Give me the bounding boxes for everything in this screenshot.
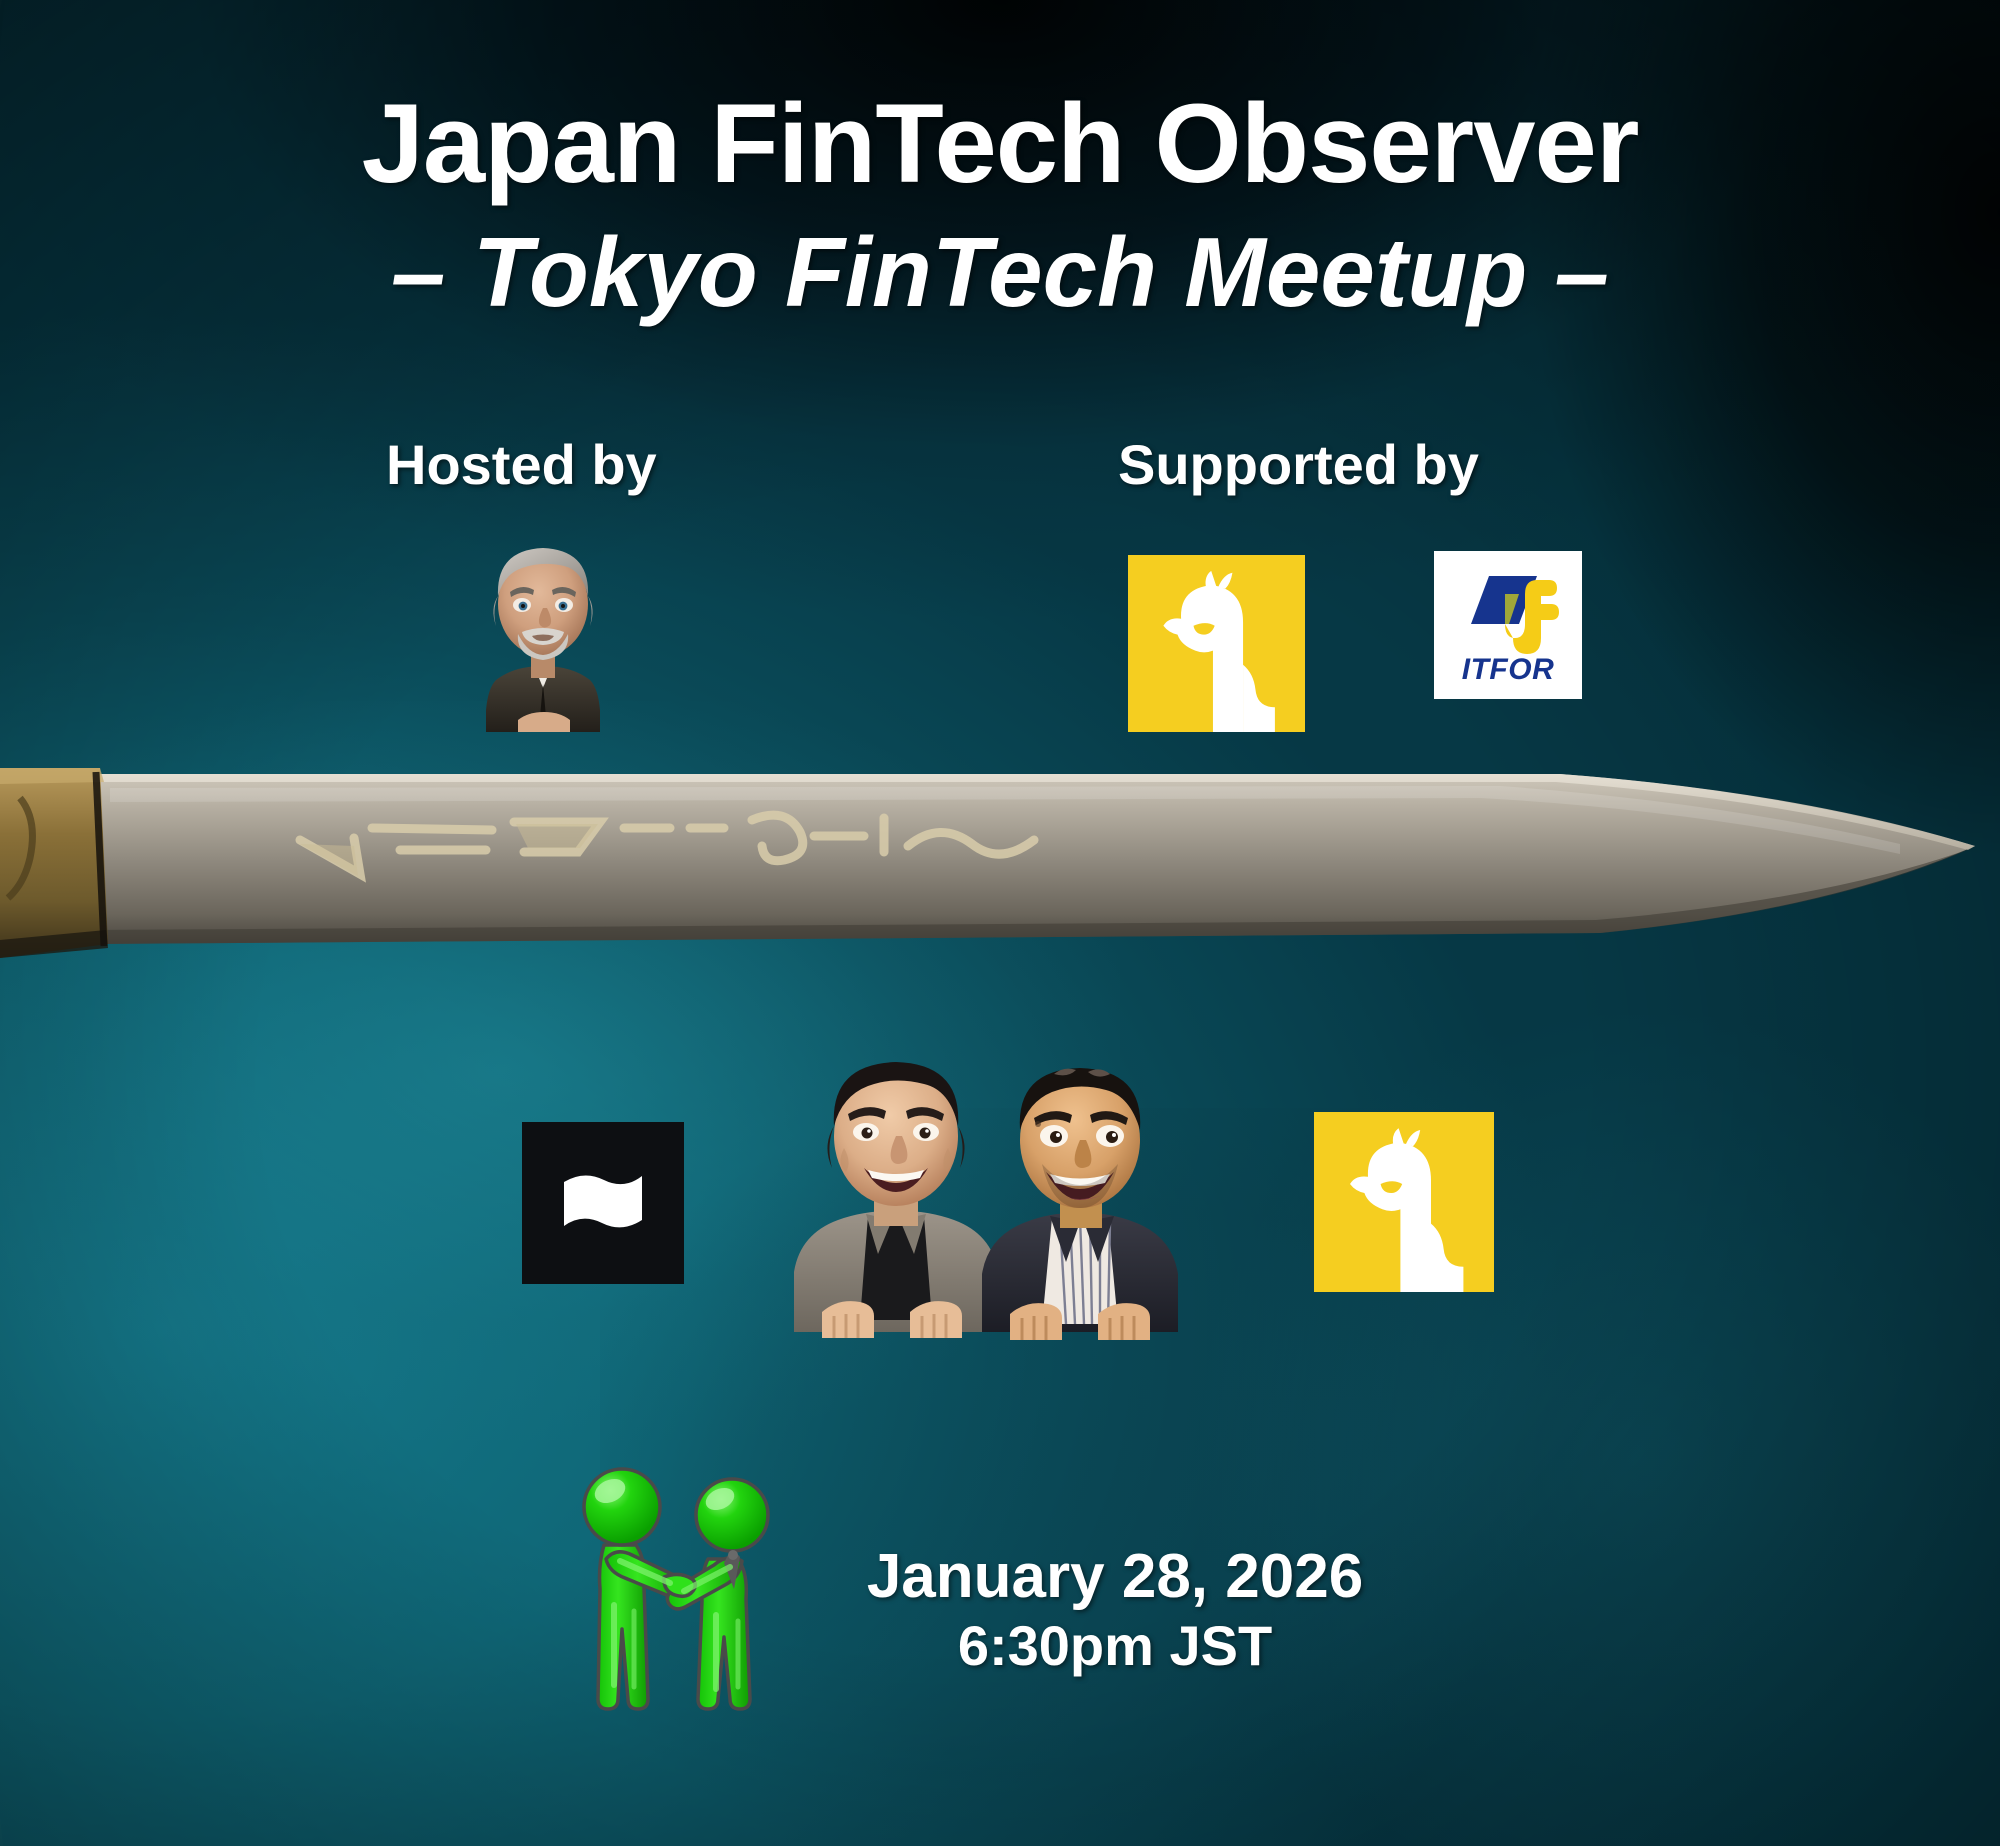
itfor-logo[interactable]: ITFOR bbox=[1434, 551, 1582, 699]
speakers-caricature-portraits bbox=[770, 1040, 1190, 1370]
llama-icon bbox=[1128, 555, 1305, 732]
flag-icon bbox=[560, 1172, 646, 1234]
event-datetime: January 28, 2026 6:30pm JST bbox=[805, 1540, 1425, 1679]
page-subtitle: – Tokyo FinTech Meetup – bbox=[0, 218, 2000, 328]
handshake-figures-icon bbox=[570, 1455, 785, 1730]
page-title: Japan FinTech Observer bbox=[0, 85, 2000, 204]
itfor-wordmark: ITFOR bbox=[1462, 655, 1555, 685]
hosted-by-label: Hosted by bbox=[386, 432, 657, 497]
event-time: 6:30pm JST bbox=[805, 1613, 1425, 1679]
white-flag-logo[interactable] bbox=[522, 1122, 684, 1284]
title-block: Japan FinTech Observer – Tokyo FinTech M… bbox=[0, 85, 2000, 327]
host-caricature-portrait bbox=[478, 512, 608, 732]
event-poster: Japan FinTech Observer – Tokyo FinTech M… bbox=[0, 0, 2000, 1846]
katana-sword-image bbox=[0, 758, 2000, 1008]
llama-icon bbox=[1314, 1112, 1494, 1292]
itfor-mark-icon bbox=[1453, 566, 1563, 654]
supported-by-label: Supported by bbox=[1118, 432, 1479, 497]
llama-logo-mid[interactable] bbox=[1314, 1112, 1494, 1292]
credits-row: Hosted by Supported by bbox=[0, 432, 2000, 502]
event-date: January 28, 2026 bbox=[805, 1540, 1425, 1613]
llama-logo-top[interactable] bbox=[1128, 555, 1305, 732]
